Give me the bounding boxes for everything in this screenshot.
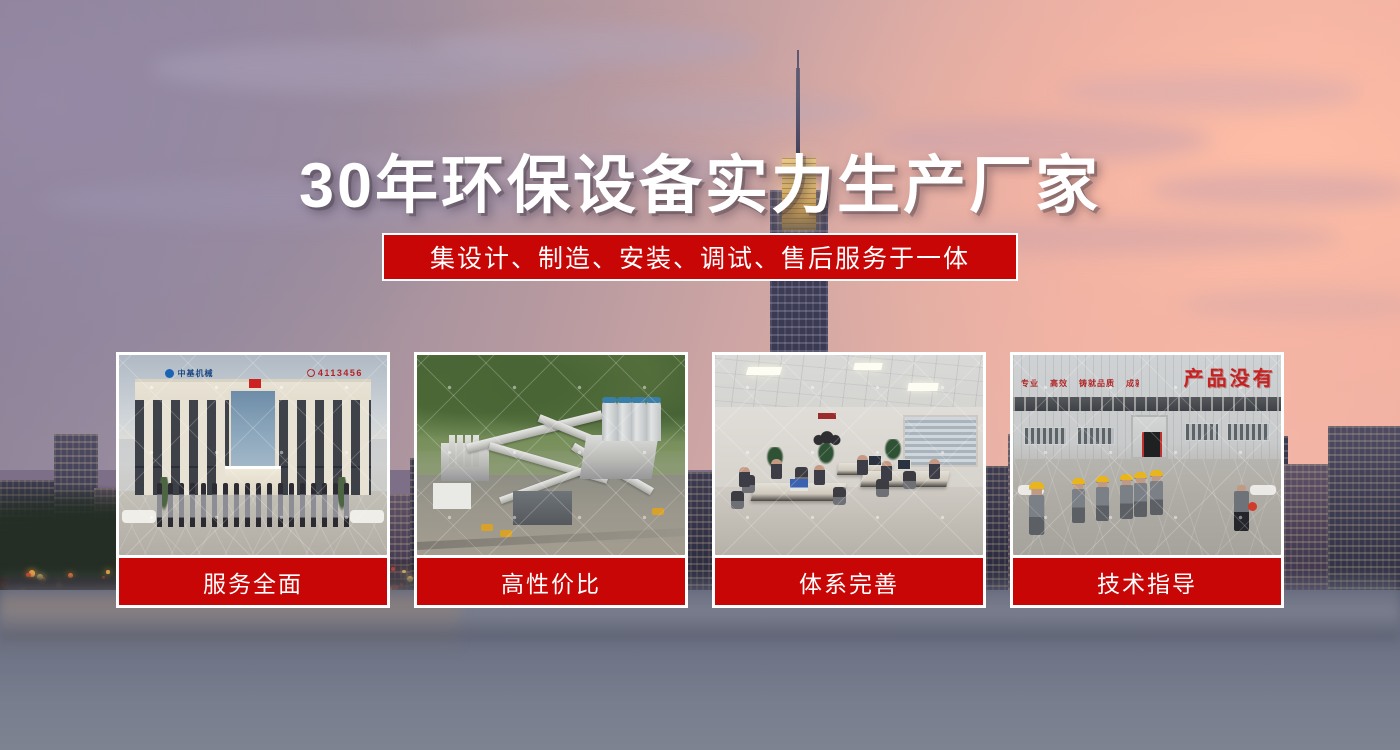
card-caption-service: 服务全面: [119, 555, 387, 605]
banner-subtitle-text: 集设计、制造、安装、调试、售后服务于一体: [430, 239, 970, 275]
storage-silo: [646, 401, 661, 441]
card-photo-office-interior: [715, 355, 983, 555]
worker: [1072, 478, 1085, 523]
hard-hat-icon: [1029, 482, 1044, 489]
building-phone-sign: 4113456: [307, 365, 363, 381]
office-plant: [817, 443, 835, 465]
storage-silo: [602, 401, 617, 441]
factory-window: [1227, 423, 1270, 441]
staff-member: [267, 483, 272, 527]
office-employee: [929, 459, 940, 479]
cloud: [430, 26, 760, 66]
office-employee: [814, 465, 825, 485]
staff-member: [168, 483, 173, 527]
worker-body: [1134, 483, 1147, 517]
ceiling-light: [746, 367, 782, 375]
staff-member: [190, 483, 195, 527]
worker: [1120, 474, 1133, 519]
worker-body: [1120, 485, 1133, 519]
office-employee: [857, 455, 868, 475]
factory-slogan-word: 成就辉煌: [1126, 378, 1139, 389]
building-sign-text: 中基机械: [178, 368, 214, 379]
worker: [1134, 472, 1147, 517]
staff-member: [179, 483, 184, 527]
ceiling-light: [907, 383, 938, 391]
factory-wall-slogan-large: 产品没有: [1136, 359, 1275, 393]
worker: [1150, 470, 1163, 515]
banner-subtitle-bar: 集设计、制造、安装、调试、售后服务于一体: [382, 233, 1018, 281]
factory-window: [1185, 423, 1220, 441]
parked-car: [350, 510, 384, 523]
office-employee: [771, 459, 782, 479]
card-caption-value: 高性价比: [417, 555, 685, 605]
staff-member: [256, 483, 261, 527]
factory-window: [1024, 427, 1067, 445]
feature-card-service[interactable]: 中基机械 4113456 服务全面: [116, 352, 390, 608]
worker-body: [1072, 489, 1085, 523]
staff-member: [322, 483, 327, 527]
plant-warehouse: [580, 435, 659, 479]
card-photo-company-building: 中基机械 4113456: [119, 355, 387, 555]
tower-antenna: [797, 50, 799, 90]
plant-shed: [513, 491, 572, 525]
worker: [1096, 476, 1109, 521]
card-caption-system: 体系完善: [715, 555, 983, 605]
feature-card-system[interactable]: 体系完善: [712, 352, 986, 608]
staff-member: [245, 483, 250, 527]
parked-car: [1250, 485, 1276, 495]
desktop-monitor: [897, 459, 911, 470]
building-sign: 中基机械: [165, 365, 256, 381]
factory-clerestory-band: [1013, 397, 1281, 411]
office-window-blinds: [903, 415, 978, 467]
supervisor: [1234, 485, 1249, 531]
staff-member: [333, 483, 338, 527]
plant-building: [433, 483, 471, 509]
staff-member: [223, 483, 228, 527]
supervisor-body: [1234, 491, 1249, 531]
card-photo-worker-briefing: 产品没有 专业高效铸就品质成就辉煌: [1013, 355, 1281, 555]
office-employee: [881, 461, 892, 481]
staff-member: [157, 483, 162, 527]
cloud: [1060, 72, 1360, 112]
staff-member: [311, 483, 316, 527]
staff-member: [201, 483, 206, 527]
worker: [1029, 482, 1044, 535]
office-chair: [876, 479, 889, 497]
factory-wall-slogan-small: 专业高效铸就品质成就辉煌: [1021, 369, 1139, 397]
factory-window: [1077, 427, 1115, 445]
photo-company-headquarters: 中基机械 4113456: [119, 355, 387, 555]
building-glass-atrium: [229, 389, 276, 477]
banner-headline: 30年环保设备实力生产厂家: [0, 135, 1400, 226]
staff-member: [344, 483, 349, 527]
staff-member: [278, 483, 283, 527]
photo-factory-workers: 产品没有 专业高效铸就品质成就辉煌: [1013, 355, 1281, 555]
plant-stack: [457, 435, 463, 467]
excavator: [500, 530, 512, 537]
card-photo-plant-aerial: [417, 355, 685, 555]
factory-slogan-word: 高效: [1050, 378, 1068, 389]
company-logo-icon: [165, 369, 174, 378]
staff-lineup: [157, 483, 350, 527]
office-chair: [903, 471, 916, 489]
office-ceiling: [715, 355, 983, 415]
cloud: [600, 96, 880, 126]
excavator: [481, 524, 493, 531]
card-caption-training: 技术指导: [1013, 555, 1281, 605]
office-plant: [884, 439, 902, 461]
factory-slogan-word: 铸就品质: [1079, 378, 1115, 389]
worker-body: [1096, 487, 1109, 521]
building-phone-text: 4113456: [318, 368, 363, 378]
feature-card-training[interactable]: 产品没有 专业高效铸就品质成就辉煌: [1010, 352, 1284, 608]
red-helmet-icon: [1248, 502, 1257, 511]
staff-member: [300, 483, 305, 527]
office-chair: [731, 491, 744, 509]
ceiling-light: [854, 363, 883, 370]
photo-production-plant: [417, 355, 685, 555]
laptop: [790, 479, 808, 491]
excavator: [652, 508, 664, 515]
photo-office-interior: [715, 355, 983, 555]
factory-door: [1131, 415, 1169, 459]
feature-card-value[interactable]: 高性价比: [414, 352, 688, 608]
phone-icon: [307, 369, 315, 377]
promo-banner: 30年环保设备实力生产厂家 集设计、制造、安装、调试、售后服务于一体: [0, 0, 1400, 750]
office-chair: [833, 487, 846, 505]
desktop-monitor: [868, 455, 882, 466]
worker-body: [1029, 495, 1044, 535]
parked-car: [122, 510, 156, 523]
national-flag: [249, 379, 261, 388]
staff-member: [289, 483, 294, 527]
photo-office-building: [135, 379, 371, 495]
staff-member: [234, 483, 239, 527]
worker-body: [1150, 481, 1163, 515]
feature-card-row: 中基机械 4113456 服务全面: [116, 352, 1284, 608]
storage-silo: [617, 401, 632, 441]
staff-member: [212, 483, 217, 527]
office-employee: [739, 467, 750, 487]
factory-slogan-word: 专业: [1021, 378, 1039, 389]
plant-stack: [449, 435, 455, 467]
storage-silo: [631, 401, 646, 441]
